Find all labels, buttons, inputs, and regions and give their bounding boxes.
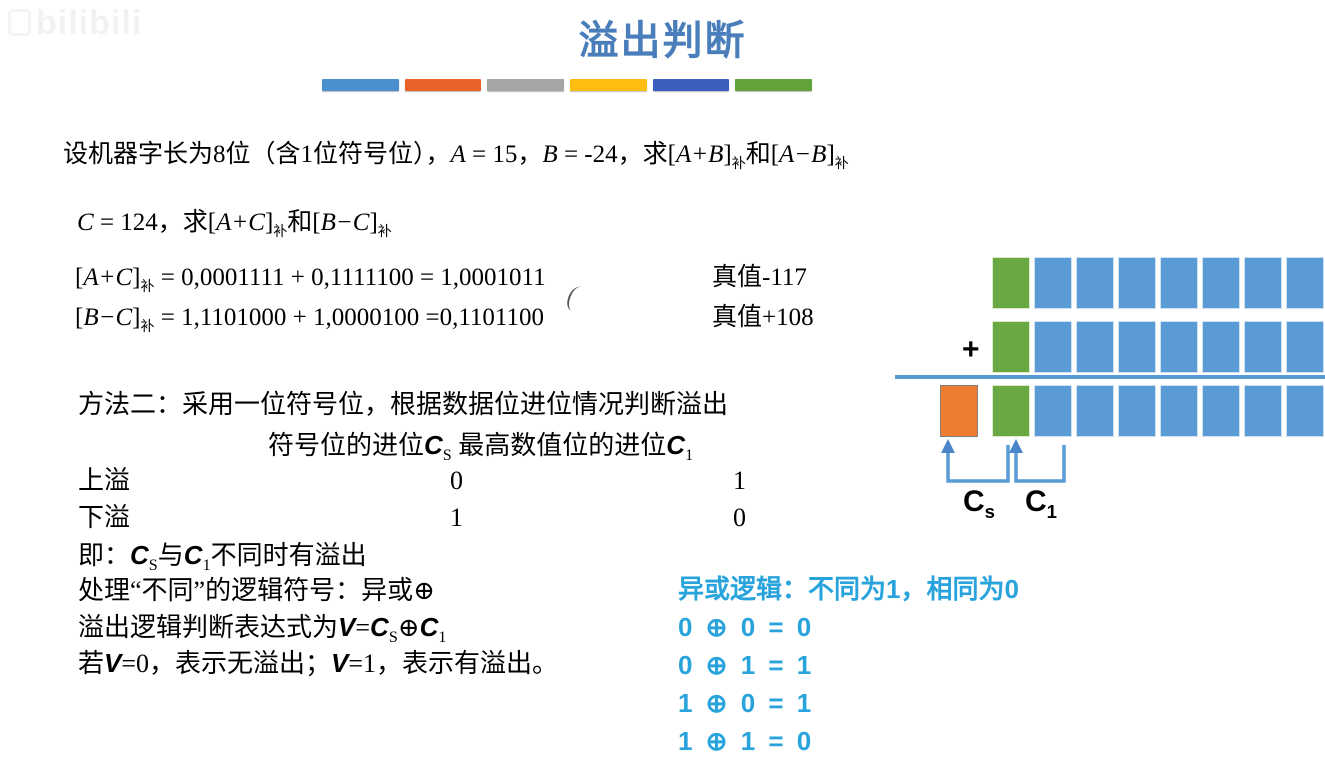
high-carry-variable: C <box>666 430 685 460</box>
eq2-rhs: = 1,1101000 + 1,0000100 =0,1101100 <box>154 304 544 331</box>
decorative-color-bars <box>322 79 812 91</box>
problem1-prefix: 设机器字长为8位（含1位符号位）， <box>63 141 451 168</box>
vnote-v1: V <box>104 648 121 678</box>
label-c1-sub: 1 <box>1047 501 1057 522</box>
data-bit-cell <box>1244 321 1282 373</box>
bracket-close-1: ] <box>723 141 731 168</box>
page-title: 溢出判断 <box>0 8 1325 66</box>
table-row-underflow-label: 下溢 <box>78 505 130 531</box>
data-bit-cell <box>1076 385 1114 437</box>
carry-out-cell <box>940 385 978 437</box>
equation-b-minus-c: [B−C]补 = 1,1101000 + 1,0000100 =0,110110… <box>75 305 544 335</box>
sign-bit-cell <box>992 385 1030 437</box>
xor-row-2: 1 ⊕ 0 = 1 <box>678 690 1019 716</box>
ask-label-2: 求[ <box>183 209 216 236</box>
true-value-2: 真值+108 <box>712 305 814 330</box>
carry-brackets <box>920 437 1110 497</box>
variable-a: A <box>451 141 466 168</box>
conclusion-line: 即：CS与C1不同时有溢出 <box>78 542 367 574</box>
data-bit-cell <box>1118 257 1156 309</box>
overflow-expression-line: 溢出逻辑判断表达式为V=CS⊕C1 <box>78 614 446 646</box>
sign-carry-variable: C <box>424 430 443 460</box>
data-bit-cell <box>1034 257 1072 309</box>
value-a: = 15， <box>466 141 543 168</box>
sign-bit-cell <box>992 321 1030 373</box>
data-bit-cell <box>1244 385 1282 437</box>
subscript-complement-1: 补 <box>732 157 746 172</box>
operand-a-row <box>992 257 1324 309</box>
eq2-subscript-complement: 补 <box>140 320 154 335</box>
data-bit-cell <box>1286 321 1324 373</box>
eq1-rhs: = 0,0001111 + 0,1111100 = 1,0001011 <box>154 264 545 291</box>
data-bit-cell <box>1160 385 1198 437</box>
label-cs: Cs <box>963 485 995 523</box>
conclusion-prefix: 即： <box>78 541 130 570</box>
ask-label-1: 求[ <box>643 141 676 168</box>
expr-a-plus-b: A+B <box>676 141 723 168</box>
sum-row <box>992 385 1324 437</box>
cs-arrow-head-icon <box>941 439 955 453</box>
bracket-close-4: ] <box>369 209 377 236</box>
operand-b-row <box>992 321 1324 373</box>
conj-and-2: 和[ <box>287 209 320 236</box>
variable-b: B <box>542 141 557 168</box>
bar-orange <box>405 79 482 91</box>
label-cs-sub: s <box>985 501 995 522</box>
sign-bit-cell <box>992 257 1030 309</box>
problem-statement-1: 设机器字长为8位（含1位符号位），A = 15，B = -24，求[A+B]补和… <box>63 142 849 172</box>
xor-row-1: 0 ⊕ 1 = 1 <box>678 652 1019 678</box>
table-row-underflow-cs: 1 <box>450 505 463 531</box>
problem-statement-2: C = 124，求[A+C]补和[B−C]补 <box>77 210 392 240</box>
bar-gray <box>487 79 564 91</box>
c1-arrow-head-icon <box>1009 439 1023 453</box>
data-bit-cell <box>1202 321 1240 373</box>
data-bit-cell <box>1286 257 1324 309</box>
bar-darkblue <box>653 79 730 91</box>
vnote-p1: 若 <box>78 649 104 678</box>
conclusion-c1-var: C <box>184 540 203 570</box>
expr-v-var: V <box>338 612 355 642</box>
expr-b-minus-c: B−C <box>321 209 370 236</box>
bar-blue <box>322 79 399 91</box>
eq1-expression: A+C <box>83 264 132 291</box>
subscript-complement-4: 补 <box>378 225 392 240</box>
xor-block-heading: 异或逻辑：不同为1，相同为0 <box>678 576 1019 602</box>
true-value-1: 真值-117 <box>712 265 807 290</box>
expr-c1-var: C <box>420 612 439 642</box>
sign-carry-label: 符号位的进位 <box>268 431 424 460</box>
carry-column-labels: 符号位的进位CS 最高数值位的进位C1 <box>268 432 693 464</box>
expr-prefix: 溢出逻辑判断表达式为 <box>78 613 338 642</box>
conclusion-c1-sub: 1 <box>203 557 211 574</box>
value-c: = 124， <box>94 209 183 236</box>
conclusion-cs-sub: S <box>149 557 158 574</box>
v-value-note-line: 若V=0，表示无溢出；V=1，表示有溢出。 <box>78 650 558 677</box>
conclusion-suffix: 不同时有溢出 <box>211 541 367 570</box>
equation-a-plus-c: [A+C]补 = 0,0001111 + 0,1111100 = 1,00010… <box>75 265 546 295</box>
value-b: = -24， <box>558 141 643 168</box>
data-bit-cell <box>1286 385 1324 437</box>
variable-c: C <box>77 209 94 236</box>
eq2-expression: B−C <box>83 304 132 331</box>
label-cs-var: C <box>963 485 985 518</box>
expr-c1-sub: 1 <box>438 629 446 646</box>
bar-yellow <box>570 79 647 91</box>
data-bit-cell <box>1118 385 1156 437</box>
expr-cs-sub: S <box>389 629 398 646</box>
data-bit-cell <box>1244 257 1282 309</box>
xor-logic-block: 异或逻辑：不同为1，相同为0 0 ⊕ 0 = 0 0 ⊕ 1 = 1 1 ⊕ 0… <box>678 576 1019 754</box>
carry-out-cell-wrapper <box>940 385 978 437</box>
expr-cs-var: C <box>370 612 389 642</box>
high-carry-subscript: 1 <box>685 447 693 464</box>
expr-a-minus-b: A−B <box>779 141 826 168</box>
table-row-overflow-label: 上溢 <box>78 468 130 494</box>
data-bit-cell <box>1202 385 1240 437</box>
table-row-overflow-c1: 1 <box>733 468 746 494</box>
expr-equals: = <box>355 613 370 642</box>
xor-symbol-line: 处理“不同”的逻辑符号：异或⊕ <box>78 578 435 604</box>
data-bit-cell <box>1202 257 1240 309</box>
vnote-v2: V <box>331 648 348 678</box>
data-bit-cell <box>1118 321 1156 373</box>
table-row-underflow-c1: 0 <box>733 505 746 531</box>
handwritten-pen-mark <box>565 284 589 314</box>
data-bit-cell <box>1160 321 1198 373</box>
data-bit-cell <box>1076 321 1114 373</box>
table-row-overflow-cs: 0 <box>450 468 463 494</box>
data-bit-cell <box>1076 257 1114 309</box>
data-bit-cell <box>1160 257 1198 309</box>
vnote-p2: =0，表示无溢出； <box>121 649 331 678</box>
label-c1-var: C <box>1025 485 1047 518</box>
subscript-complement-2: 补 <box>835 157 849 172</box>
xor-row-3: 1 ⊕ 1 = 0 <box>678 728 1019 754</box>
data-bit-cell <box>1034 385 1072 437</box>
plus-operator: + <box>962 333 980 367</box>
label-c1: C1 <box>1025 485 1057 523</box>
vnote-p3: =1，表示有溢出。 <box>348 649 558 678</box>
conj-and-1: 和[ <box>746 141 779 168</box>
method-two-heading: 方法二：采用一位符号位，根据数据位进位情况判断溢出 <box>78 392 728 418</box>
expr-xor-icon: ⊕ <box>398 613 420 642</box>
sign-carry-subscript: S <box>443 447 452 464</box>
data-bit-cell <box>1034 321 1072 373</box>
addition-bit-diagram: + Cs C1 <box>880 245 1325 535</box>
sum-separator-line <box>895 375 1325 379</box>
xor-row-0: 0 ⊕ 0 = 0 <box>678 614 1019 640</box>
eq1-subscript-complement: 补 <box>140 280 154 295</box>
conclusion-mid: 与 <box>158 541 184 570</box>
bar-green <box>735 79 812 91</box>
conclusion-cs-var: C <box>130 540 149 570</box>
high-carry-label: 最高数值位的进位 <box>458 431 666 460</box>
cs-bracket-path <box>948 445 1008 481</box>
subscript-complement-3: 补 <box>273 225 287 240</box>
c1-bracket-path <box>1016 445 1064 481</box>
bracket-close-2: ] <box>826 141 834 168</box>
expr-a-plus-c: A+C <box>216 209 265 236</box>
